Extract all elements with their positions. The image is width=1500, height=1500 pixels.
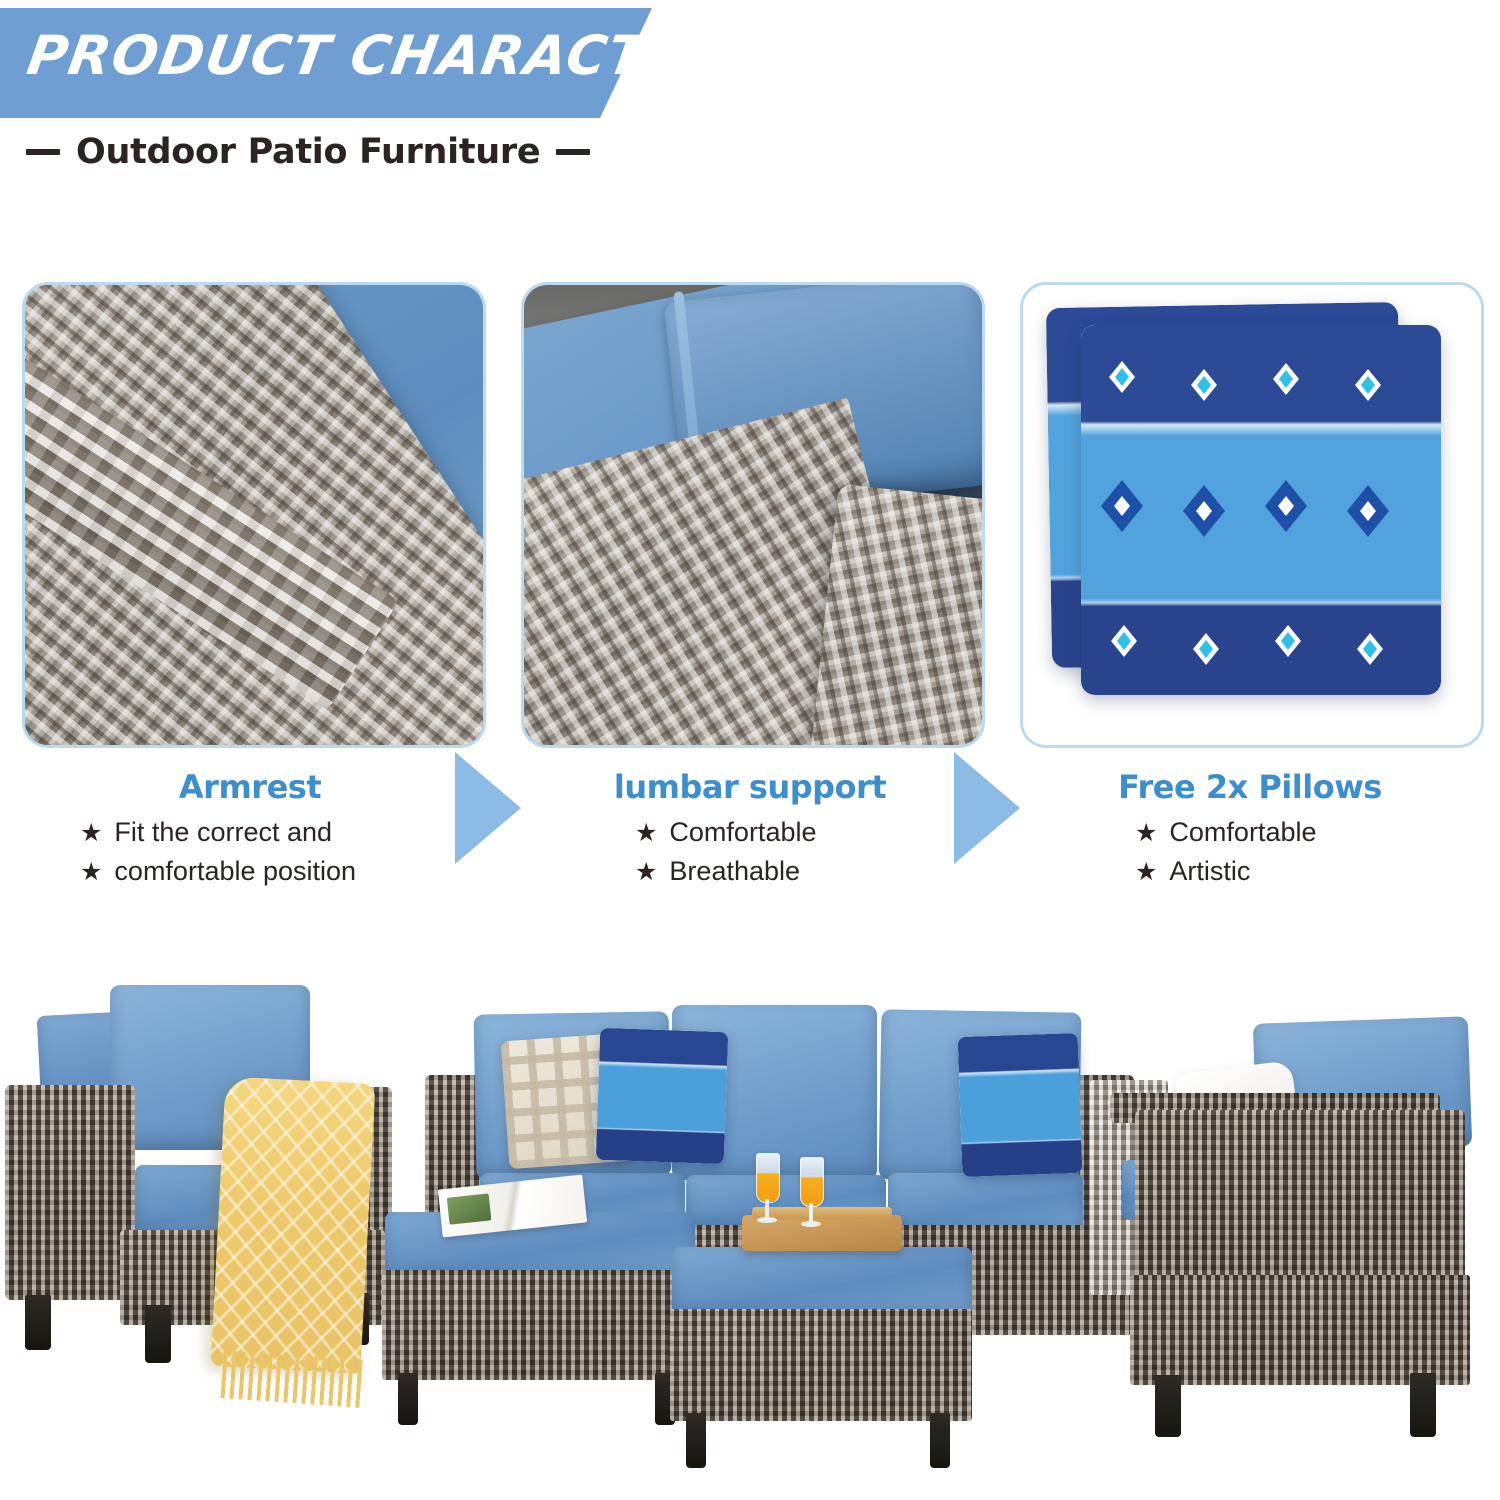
page-title: PRODUCT CHARACTER xyxy=(23,24,733,87)
page-header: PRODUCT CHARACTER Outdoor Patio Furnitur… xyxy=(0,0,1500,200)
arrow-right-icon-2 xyxy=(954,752,1020,864)
list-item: ★ Breathable xyxy=(500,852,1000,890)
caption-list-free-pillows: ★ Comfortable ★ Artistic xyxy=(1000,813,1500,890)
ottoman-2-base xyxy=(670,1309,972,1421)
caption-free-pillows: Free 2x Pillows ★ Comfortable ★ Artistic xyxy=(1000,770,1500,890)
armrest-photo xyxy=(25,285,483,745)
left-chair-leg xyxy=(25,1295,51,1350)
feature-image-free-pillows xyxy=(1020,282,1484,748)
glass-bowl xyxy=(800,1157,824,1207)
glass-bowl xyxy=(756,1153,780,1203)
ikat-pattern xyxy=(596,1028,729,1164)
lumbar-photo xyxy=(524,285,982,745)
list-item: ★ Comfortable xyxy=(500,813,1000,851)
ikat-pattern xyxy=(958,1033,1083,1177)
sofa-ikat-pillow-left xyxy=(596,1028,729,1164)
star-icon: ★ xyxy=(635,821,657,846)
star-icon: ★ xyxy=(1135,821,1157,846)
glass-foot xyxy=(757,1217,777,1223)
list-item-label: Breathable xyxy=(669,852,800,890)
star-icon: ★ xyxy=(635,860,657,885)
feature-captions: Armrest ★ Fit the correct and ★ comforta… xyxy=(0,770,1500,940)
list-item-label: Artistic xyxy=(1169,852,1250,890)
list-item-label: Fit the correct and xyxy=(114,813,332,851)
list-item: ★ Artistic xyxy=(1000,852,1500,890)
right-chair-leg xyxy=(1155,1375,1181,1437)
ottoman-1-base xyxy=(382,1270,694,1380)
ottoman-2-leg xyxy=(686,1413,706,1468)
glass-stem xyxy=(809,1203,813,1223)
caption-title-armrest: Armrest xyxy=(0,770,500,805)
ikat-pillow-front xyxy=(1081,325,1441,695)
right-chair-base xyxy=(1130,1275,1470,1385)
pillows-photo xyxy=(1023,285,1481,745)
ottoman-1-leg xyxy=(398,1373,418,1425)
mimosa-glass xyxy=(756,1153,778,1225)
star-icon: ★ xyxy=(1135,860,1157,885)
hero-product-photo xyxy=(0,975,1500,1500)
dash-right-icon xyxy=(556,149,590,155)
throw-blanket-fringe xyxy=(220,1350,363,1408)
glass-foot xyxy=(801,1221,821,1227)
list-item-label: comfortable position xyxy=(114,852,356,890)
list-item-label: Comfortable xyxy=(1169,813,1316,851)
feature-image-armrest xyxy=(22,282,486,748)
sofa-ikat-pillow-right xyxy=(958,1033,1083,1177)
caption-title-lumbar-support: lumbar support xyxy=(500,770,1000,805)
caption-armrest: Armrest ★ Fit the correct and ★ comforta… xyxy=(0,770,500,890)
star-icon: ★ xyxy=(80,821,102,846)
list-item: ★ Fit the correct and xyxy=(0,813,500,851)
caption-lumbar-support: lumbar support ★ Comfortable ★ Breathabl… xyxy=(500,770,1000,890)
page-subtitle: Outdoor Patio Furniture xyxy=(76,132,540,172)
feature-panels xyxy=(0,282,1500,752)
left-chair-left-arm xyxy=(5,1085,135,1300)
arrow-right-icon-1 xyxy=(455,752,521,864)
lumbar-right-arm-weave xyxy=(811,484,982,745)
mimosa-glass xyxy=(800,1157,822,1229)
caption-list-armrest: ★ Fit the correct and ★ comfortable posi… xyxy=(0,813,500,890)
list-item: ★ Comfortable xyxy=(1000,813,1500,851)
list-item: ★ comfortable position xyxy=(0,852,500,890)
caption-title-free-pillows: Free 2x Pillows xyxy=(1000,770,1500,805)
ottoman-2-leg xyxy=(930,1413,950,1468)
star-icon: ★ xyxy=(80,860,102,885)
left-chair-leg xyxy=(145,1305,171,1363)
glass-stem xyxy=(765,1199,769,1219)
subtitle-row: Outdoor Patio Furniture xyxy=(26,132,590,172)
feature-image-lumbar-support xyxy=(521,282,985,748)
dash-left-icon xyxy=(26,149,60,155)
caption-list-lumbar-support: ★ Comfortable ★ Breathable xyxy=(500,813,1000,890)
list-item-label: Comfortable xyxy=(669,813,816,851)
right-chair-leg xyxy=(1410,1373,1436,1437)
yellow-throw-blanket xyxy=(211,1076,376,1373)
